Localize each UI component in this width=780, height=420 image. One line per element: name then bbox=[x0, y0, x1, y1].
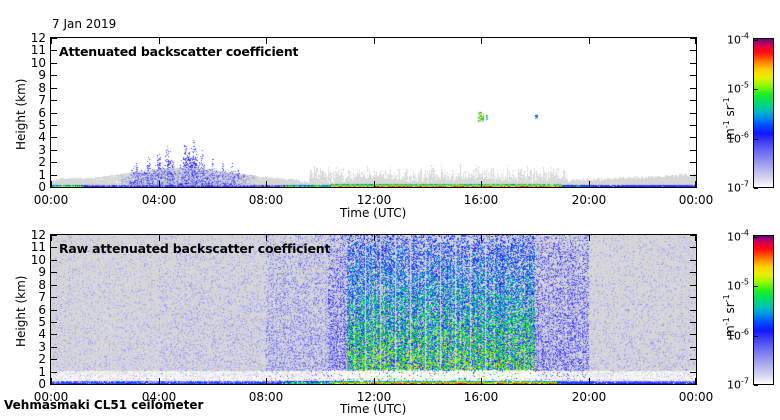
x-tick-label-4: 16:00 bbox=[464, 390, 499, 404]
x-tick-6 bbox=[695, 378, 696, 384]
x-tick-1 bbox=[159, 378, 160, 384]
colorbar-tick--6 bbox=[754, 139, 758, 140]
y-tick-right-7 bbox=[690, 297, 696, 298]
x-axis-title-top: Time (UTC) bbox=[340, 206, 406, 220]
y-tick-right-2 bbox=[690, 359, 696, 360]
y-tick-right-5 bbox=[690, 322, 696, 323]
colorbar-exp-1-2: -1 bbox=[722, 317, 731, 325]
x-tick-3 bbox=[374, 181, 375, 187]
y-tick-right-2 bbox=[690, 162, 696, 163]
y-tick-4 bbox=[51, 137, 57, 138]
figure-root: 7 Jan 2019 Attenuated backscatter coeffi… bbox=[0, 0, 780, 420]
y-tick-6 bbox=[51, 113, 57, 114]
x-tick-label-6: 00:00 bbox=[679, 390, 714, 404]
y-tick-right-0 bbox=[690, 384, 696, 385]
colorbar-exponent: -6 bbox=[741, 131, 749, 140]
y-tick-11 bbox=[51, 50, 57, 51]
y-tick-right-3 bbox=[690, 150, 696, 151]
y-tick-right-1 bbox=[690, 372, 696, 373]
y-tick-3 bbox=[51, 150, 57, 151]
y-tick-right-9 bbox=[690, 75, 696, 76]
x-tick-2 bbox=[266, 181, 267, 187]
colorbar-unit-sr-2: sr bbox=[723, 302, 737, 317]
x-tick-0 bbox=[51, 181, 52, 187]
colorbar-exponent: -5 bbox=[741, 278, 749, 287]
colorbar-unit-sr: sr bbox=[723, 105, 737, 120]
colorbar-exp-2-2: -1 bbox=[722, 294, 731, 302]
colorbar-unit-m: m bbox=[723, 128, 737, 140]
colorbar-exponent: -6 bbox=[741, 328, 749, 337]
colorbar-tick--6 bbox=[754, 336, 758, 337]
date-label: 7 Jan 2019 bbox=[52, 17, 116, 31]
x-tick-label-3: 12:00 bbox=[357, 193, 392, 207]
colorbar-mantissa: 10 bbox=[727, 82, 741, 95]
colorbar-mantissa: 10 bbox=[727, 378, 741, 391]
y-tick-9 bbox=[51, 272, 57, 273]
y-tick-right-5 bbox=[690, 125, 696, 126]
x-tick-top-4 bbox=[481, 38, 482, 44]
x-tick-top-0 bbox=[51, 38, 52, 44]
colorbar-top[interactable] bbox=[753, 38, 774, 188]
colorbar-mantissa: 10 bbox=[727, 230, 741, 243]
colorbar-exp-1: -1 bbox=[722, 120, 731, 128]
x-tick-5 bbox=[589, 378, 590, 384]
y-tick-label-5: 5 bbox=[38, 315, 46, 329]
y-tick-label-4: 4 bbox=[38, 130, 46, 144]
x-axis-title-bot: Time (UTC) bbox=[340, 402, 406, 416]
y-tick-label-2: 2 bbox=[38, 155, 46, 169]
y-tick-4 bbox=[51, 334, 57, 335]
panel-title-bot: Raw attenuated backscatter coefficient bbox=[59, 241, 330, 256]
x-tick-5 bbox=[589, 181, 590, 187]
y-tick-8 bbox=[51, 88, 57, 89]
colorbar-title-top: m-1 sr-1 bbox=[722, 97, 737, 140]
y-tick-0 bbox=[51, 187, 57, 188]
y-tick-7 bbox=[51, 297, 57, 298]
y-tick-label-1: 1 bbox=[38, 168, 46, 182]
colorbar-exponent: -5 bbox=[741, 81, 749, 90]
y-tick-10 bbox=[51, 260, 57, 261]
y-tick-5 bbox=[51, 322, 57, 323]
x-tick-top-3 bbox=[374, 38, 375, 44]
y-tick-8 bbox=[51, 285, 57, 286]
colorbar-tick--5 bbox=[754, 89, 758, 90]
colorbar-mantissa: 10 bbox=[727, 181, 741, 194]
colorbar-tick--7 bbox=[754, 188, 758, 189]
y-tick-right-8 bbox=[690, 285, 696, 286]
x-tick-top-3 bbox=[374, 235, 375, 241]
x-tick-label-1: 04:00 bbox=[142, 193, 177, 207]
x-tick-top-4 bbox=[481, 235, 482, 241]
x-tick-1 bbox=[159, 181, 160, 187]
y-tick-right-8 bbox=[690, 88, 696, 89]
y-tick-right-7 bbox=[690, 100, 696, 101]
y-tick-10 bbox=[51, 63, 57, 64]
x-tick-top-0 bbox=[51, 235, 52, 241]
y-tick-right-0 bbox=[690, 187, 696, 188]
x-tick-4 bbox=[481, 181, 482, 187]
y-tick-2 bbox=[51, 162, 57, 163]
colorbar-mantissa: 10 bbox=[727, 33, 741, 46]
y-tick-label-10: 10 bbox=[31, 253, 46, 267]
y-axis-title-top: Height (km) bbox=[14, 79, 28, 150]
colorbar-tick--4 bbox=[754, 237, 758, 238]
colorbar-tick-label--4: 10-4 bbox=[727, 229, 749, 244]
footer-station-label: Vehmasmaki CL51 ceilometer bbox=[4, 398, 203, 412]
y-tick-right-6 bbox=[690, 113, 696, 114]
panel-attenuated-backscatter[interactable]: Attenuated backscatter coefficient bbox=[50, 37, 697, 188]
colorbar-title-bot: m-1 sr-1 bbox=[722, 294, 737, 337]
x-tick-3 bbox=[374, 378, 375, 384]
y-tick-label-11: 11 bbox=[31, 43, 46, 57]
y-tick-7 bbox=[51, 100, 57, 101]
colorbar-mantissa: 10 bbox=[727, 279, 741, 292]
colorbar-exponent: -4 bbox=[741, 32, 749, 41]
panel-raw-attenuated-backscatter[interactable]: Raw attenuated backscatter coefficient bbox=[50, 234, 697, 385]
x-tick-label-5: 20:00 bbox=[572, 390, 607, 404]
colorbar-tick-label--5: 10-5 bbox=[727, 81, 749, 96]
y-tick-right-11 bbox=[690, 247, 696, 248]
y-tick-1 bbox=[51, 372, 57, 373]
y-tick-3 bbox=[51, 347, 57, 348]
y-tick-label-10: 10 bbox=[31, 56, 46, 70]
y-tick-11 bbox=[51, 247, 57, 248]
y-tick-label-1: 1 bbox=[38, 365, 46, 379]
y-tick-label-4: 4 bbox=[38, 327, 46, 341]
heatmap-canvas-top bbox=[51, 38, 696, 187]
y-tick-right-10 bbox=[690, 260, 696, 261]
y-tick-0 bbox=[51, 384, 57, 385]
y-tick-right-11 bbox=[690, 50, 696, 51]
y-tick-label-0: 0 bbox=[38, 180, 46, 194]
y-tick-label-8: 8 bbox=[38, 278, 46, 292]
y-tick-label-8: 8 bbox=[38, 81, 46, 95]
y-tick-right-10 bbox=[690, 63, 696, 64]
x-tick-label-5: 20:00 bbox=[572, 193, 607, 207]
y-tick-label-11: 11 bbox=[31, 240, 46, 254]
x-tick-label-2: 08:00 bbox=[249, 390, 284, 404]
y-tick-label-5: 5 bbox=[38, 118, 46, 132]
x-tick-top-5 bbox=[589, 235, 590, 241]
x-tick-label-0: 00:00 bbox=[34, 193, 69, 207]
x-tick-label-4: 16:00 bbox=[464, 193, 499, 207]
colorbar-exponent: -7 bbox=[741, 180, 749, 189]
panel-title-top: Attenuated backscatter coefficient bbox=[59, 44, 298, 59]
y-tick-right-4 bbox=[690, 137, 696, 138]
y-tick-1 bbox=[51, 175, 57, 176]
y-tick-label-2: 2 bbox=[38, 352, 46, 366]
y-tick-6 bbox=[51, 310, 57, 311]
colorbar-exponent: -7 bbox=[741, 377, 749, 386]
y-tick-label-6: 6 bbox=[38, 106, 46, 120]
heatmap-canvas-bot bbox=[51, 235, 696, 384]
x-tick-label-2: 08:00 bbox=[249, 193, 284, 207]
y-tick-right-6 bbox=[690, 310, 696, 311]
x-tick-4 bbox=[481, 378, 482, 384]
colorbar-exponent: -4 bbox=[741, 229, 749, 238]
y-tick-label-6: 6 bbox=[38, 303, 46, 317]
y-tick-9 bbox=[51, 75, 57, 76]
y-tick-label-12: 12 bbox=[31, 228, 46, 242]
y-tick-right-3 bbox=[690, 347, 696, 348]
y-tick-label-3: 3 bbox=[38, 340, 46, 354]
colorbar-tick-label--7: 10-7 bbox=[727, 377, 749, 392]
x-tick-top-6 bbox=[695, 235, 696, 241]
colorbar-tick-label--7: 10-7 bbox=[727, 180, 749, 195]
y-tick-right-9 bbox=[690, 272, 696, 273]
y-tick-2 bbox=[51, 359, 57, 360]
y-tick-right-4 bbox=[690, 334, 696, 335]
y-tick-label-7: 7 bbox=[38, 290, 46, 304]
colorbar-bot[interactable] bbox=[753, 235, 774, 385]
y-axis-title-bot: Height (km) bbox=[14, 276, 28, 347]
colorbar-exp-2: -1 bbox=[722, 97, 731, 105]
y-tick-right-1 bbox=[690, 175, 696, 176]
y-tick-label-9: 9 bbox=[38, 68, 46, 82]
y-tick-label-0: 0 bbox=[38, 377, 46, 391]
colorbar-tick-label--5: 10-5 bbox=[727, 278, 749, 293]
x-tick-top-6 bbox=[695, 38, 696, 44]
colorbar-tick--5 bbox=[754, 286, 758, 287]
x-tick-0 bbox=[51, 378, 52, 384]
y-tick-label-7: 7 bbox=[38, 93, 46, 107]
y-tick-label-3: 3 bbox=[38, 143, 46, 157]
colorbar-tick--7 bbox=[754, 385, 758, 386]
y-tick-5 bbox=[51, 125, 57, 126]
x-tick-2 bbox=[266, 378, 267, 384]
colorbar-tick-label--4: 10-4 bbox=[727, 32, 749, 47]
x-tick-label-6: 00:00 bbox=[679, 193, 714, 207]
y-tick-label-9: 9 bbox=[38, 265, 46, 279]
colorbar-unit-m-2: m bbox=[723, 325, 737, 337]
x-tick-6 bbox=[695, 181, 696, 187]
y-tick-label-12: 12 bbox=[31, 31, 46, 45]
x-tick-top-5 bbox=[589, 38, 590, 44]
colorbar-tick--4 bbox=[754, 40, 758, 41]
